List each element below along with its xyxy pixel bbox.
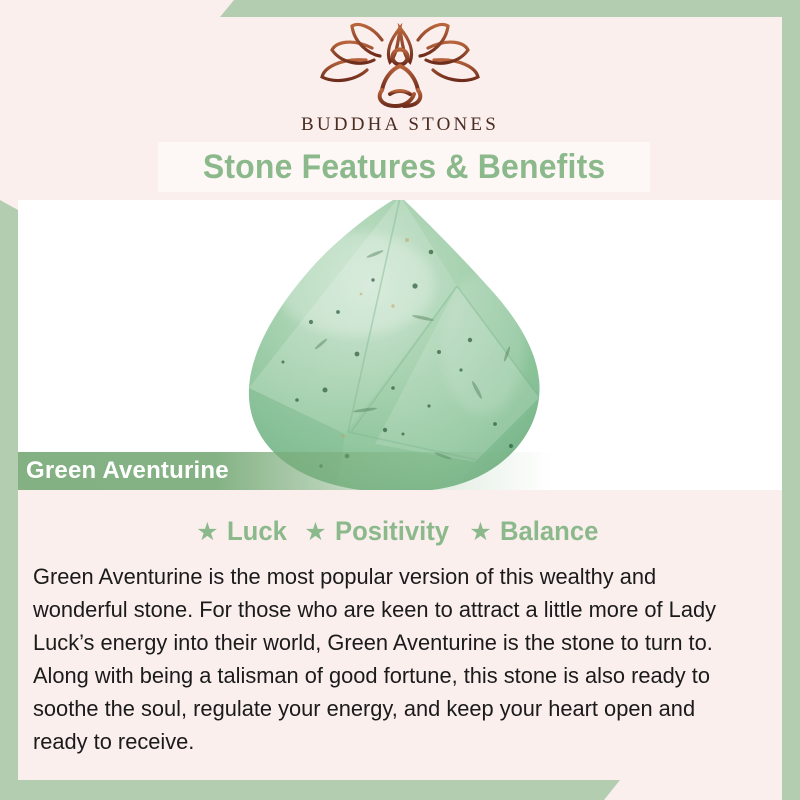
benefits-row: ★ Luck ★ Positivity ★ Balance — [18, 516, 782, 547]
stone-photo — [18, 200, 782, 490]
page-title: Stone Features & Benefits — [203, 148, 606, 187]
benefit-item-luck: ★ Luck — [196, 516, 290, 547]
benefit-label: Luck — [227, 516, 287, 547]
star-icon: ★ — [304, 520, 328, 544]
green-aventurine-stone-image — [225, 200, 575, 490]
brand-name: BUDDHA STONES — [0, 114, 800, 136]
benefit-item-balance: ★ Balance — [469, 516, 604, 547]
infographic-page: BUDDHA STONES Stone Features & Benefits — [0, 0, 800, 800]
stone-name-label: Green Aventurine — [26, 457, 229, 485]
benefit-item-positivity: ★ Positivity — [304, 516, 455, 547]
stone-label-bar: Green Aventurine — [18, 452, 782, 490]
star-icon: ★ — [469, 520, 493, 544]
description-paragraph: Green Aventurine is the most popular ver… — [33, 560, 753, 758]
frame-band-bottom — [0, 780, 620, 800]
brand-logo: BUDDHA STONES — [0, 22, 800, 136]
title-banner: Stone Features & Benefits — [158, 142, 650, 192]
frame-band-left — [0, 200, 18, 800]
star-icon: ★ — [196, 520, 220, 544]
lotus-meditation-icon — [310, 22, 490, 112]
benefit-label: Balance — [500, 516, 598, 547]
benefit-label: Positivity — [335, 516, 449, 547]
